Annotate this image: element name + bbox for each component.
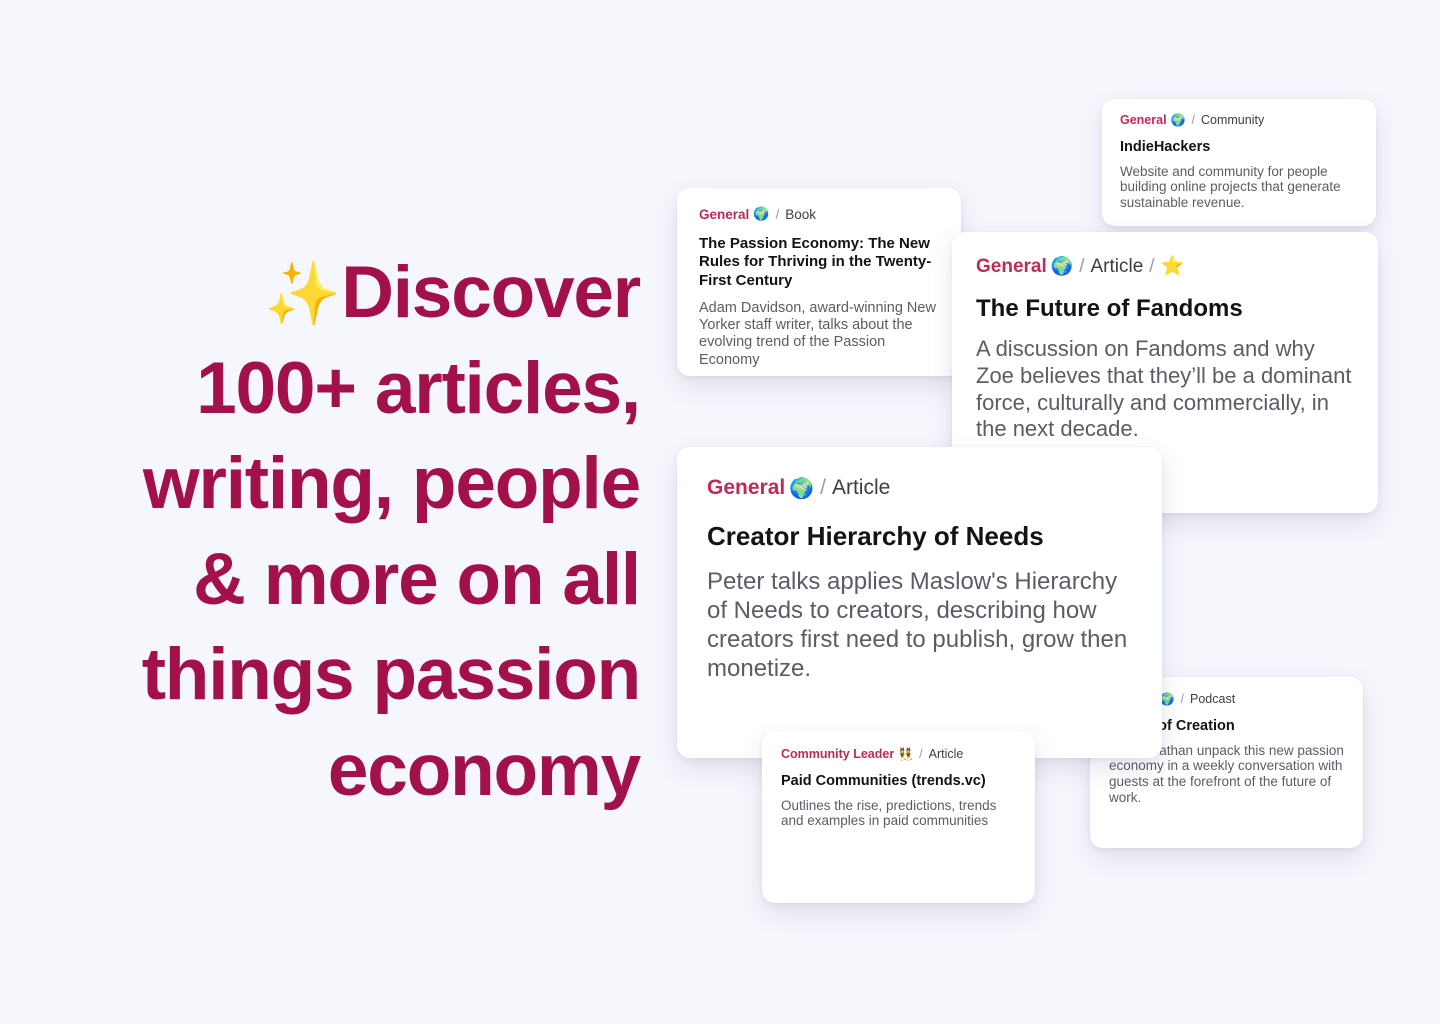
card-tag[interactable]: General (707, 477, 785, 498)
card-kind[interactable]: Article (832, 477, 890, 498)
globe-icon: 🌍 (753, 208, 769, 221)
card-tag[interactable]: Community Leader (781, 748, 894, 761)
globe-icon: 🌍 (1051, 258, 1073, 276)
card-tag[interactable]: General (976, 257, 1047, 276)
card-indiehackers[interactable]: General 🌍 / Community IndieHackers Websi… (1102, 99, 1376, 226)
breadcrumb: Community Leader 👯 / Article (781, 748, 1016, 761)
breadcrumb: General 🌍 / Community (1120, 114, 1358, 127)
card-paid-communities[interactable]: Community Leader 👯 / Article Paid Commun… (762, 731, 1035, 903)
card-passion-economy[interactable]: General 🌍 / Book The Passion Economy: Th… (677, 188, 961, 376)
card-kind[interactable]: Article (1090, 257, 1143, 276)
breadcrumb: General 🌍 / Book (699, 208, 939, 222)
breadcrumb-separator: / (919, 748, 922, 761)
hero-section: ✨Discover 100+ articles, writing, people… (0, 0, 1440, 1024)
card-tag[interactable]: General (1120, 114, 1167, 127)
breadcrumb-separator-2: / (1149, 257, 1154, 276)
card-description: A discussion on Fandoms and why Zoe beli… (976, 336, 1354, 443)
globe-icon: 🌍 (1171, 114, 1186, 126)
globe-icon: 🌍 (789, 478, 814, 498)
card-title[interactable]: The Passion Economy: The New Rules for T… (699, 235, 939, 292)
sparkles-icon: ✨ (264, 260, 341, 329)
star-icon[interactable]: ⭐ (1161, 257, 1185, 276)
card-kind[interactable]: Book (785, 208, 816, 222)
card-title[interactable]: Paid Communities (trends.vc) (781, 772, 1016, 790)
card-kind[interactable]: Article (929, 748, 964, 761)
card-creator-hierarchy-of-needs[interactable]: General 🌍 / Article Creator Hierarchy of… (677, 447, 1162, 758)
card-kind[interactable]: Community (1201, 114, 1264, 127)
headline-text: Discover 100+ articles, writing, people … (142, 252, 640, 811)
card-kind[interactable]: Podcast (1190, 693, 1235, 706)
breadcrumb-separator: / (820, 477, 826, 498)
breadcrumb: General 🌍 / Article / ⭐ (976, 257, 1354, 276)
card-title[interactable]: Creator Hierarchy of Needs (707, 520, 1132, 553)
card-description: Adam Davidson, award-winning New Yorker … (699, 300, 939, 368)
card-title[interactable]: IndieHackers (1120, 138, 1358, 156)
breadcrumb-separator: / (1192, 114, 1195, 127)
card-tag[interactable]: General (699, 208, 749, 222)
people-icon: 👯 (898, 748, 913, 760)
card-description: Peter talks applies Maslow's Hierarchy o… (707, 567, 1132, 684)
breadcrumb-separator: / (1181, 693, 1184, 706)
breadcrumb-separator: / (1079, 257, 1084, 276)
card-description: Website and community for people buildin… (1120, 164, 1358, 211)
card-title[interactable]: The Future of Fandoms (976, 294, 1354, 324)
page-headline: ✨Discover 100+ articles, writing, people… (40, 245, 640, 819)
breadcrumb-separator: / (775, 208, 779, 222)
card-description: Outlines the rise, predictions, trends a… (781, 798, 1016, 829)
breadcrumb: General 🌍 / Article (707, 477, 1132, 498)
